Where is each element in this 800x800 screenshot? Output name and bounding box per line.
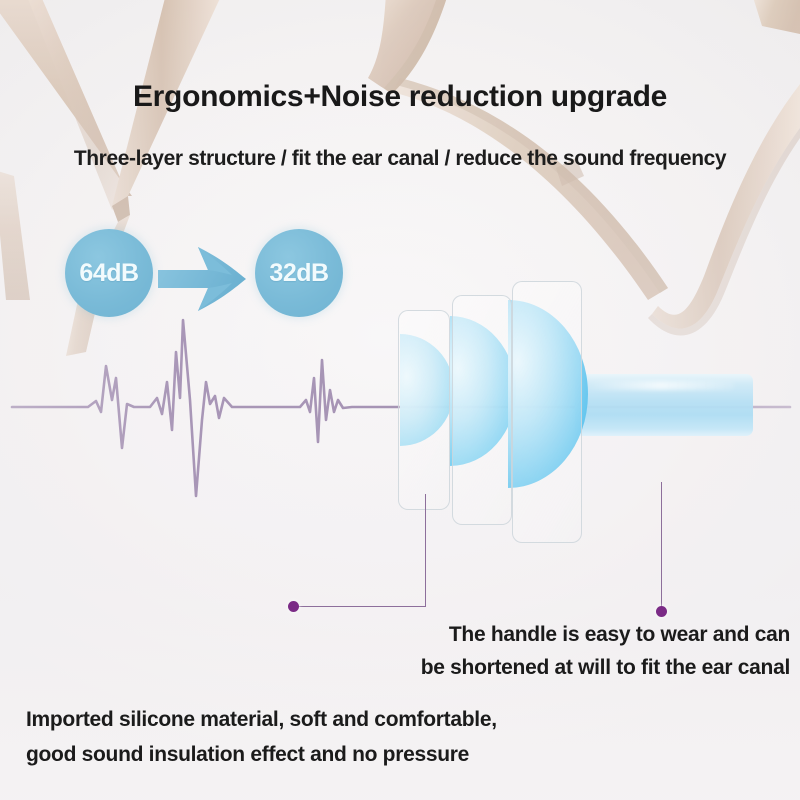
handle-callout-line-1: The handle is easy to wear and can xyxy=(300,618,790,651)
handle-highlight xyxy=(585,381,735,390)
bottom-note-line-2: good sound insulation effect and no pres… xyxy=(26,737,497,772)
noise-after-label: 32dB xyxy=(269,259,328,288)
highlight-box-1 xyxy=(398,310,450,510)
leader-horizontal-left xyxy=(294,606,426,608)
right-arrow-icon xyxy=(150,245,260,315)
noise-before-label: 64dB xyxy=(79,259,138,288)
callout-marker-right xyxy=(656,606,667,617)
highlight-box-3 xyxy=(512,281,582,543)
page-subtitle: Three-layer structure / fit the ear cana… xyxy=(0,147,800,171)
noise-after-badge: 32dB xyxy=(255,229,343,317)
bottom-note: Imported silicone material, soft and com… xyxy=(26,702,497,772)
highlight-box-2 xyxy=(452,295,512,525)
page-title: Ergonomics+Noise reduction upgrade xyxy=(0,80,800,114)
leader-vertical-left xyxy=(425,494,427,607)
bottom-note-line-1: Imported silicone material, soft and com… xyxy=(26,702,497,737)
handle-callout-line-2: be shortened at will to fit the ear cana… xyxy=(300,651,790,684)
leader-vertical-right xyxy=(661,482,663,608)
callout-marker-left xyxy=(288,601,299,612)
noise-before-badge: 64dB xyxy=(65,229,153,317)
product-infographic: Ergonomics+Noise reduction upgrade Three… xyxy=(0,0,800,800)
handle-callout-text: The handle is easy to wear and can be sh… xyxy=(300,618,790,684)
